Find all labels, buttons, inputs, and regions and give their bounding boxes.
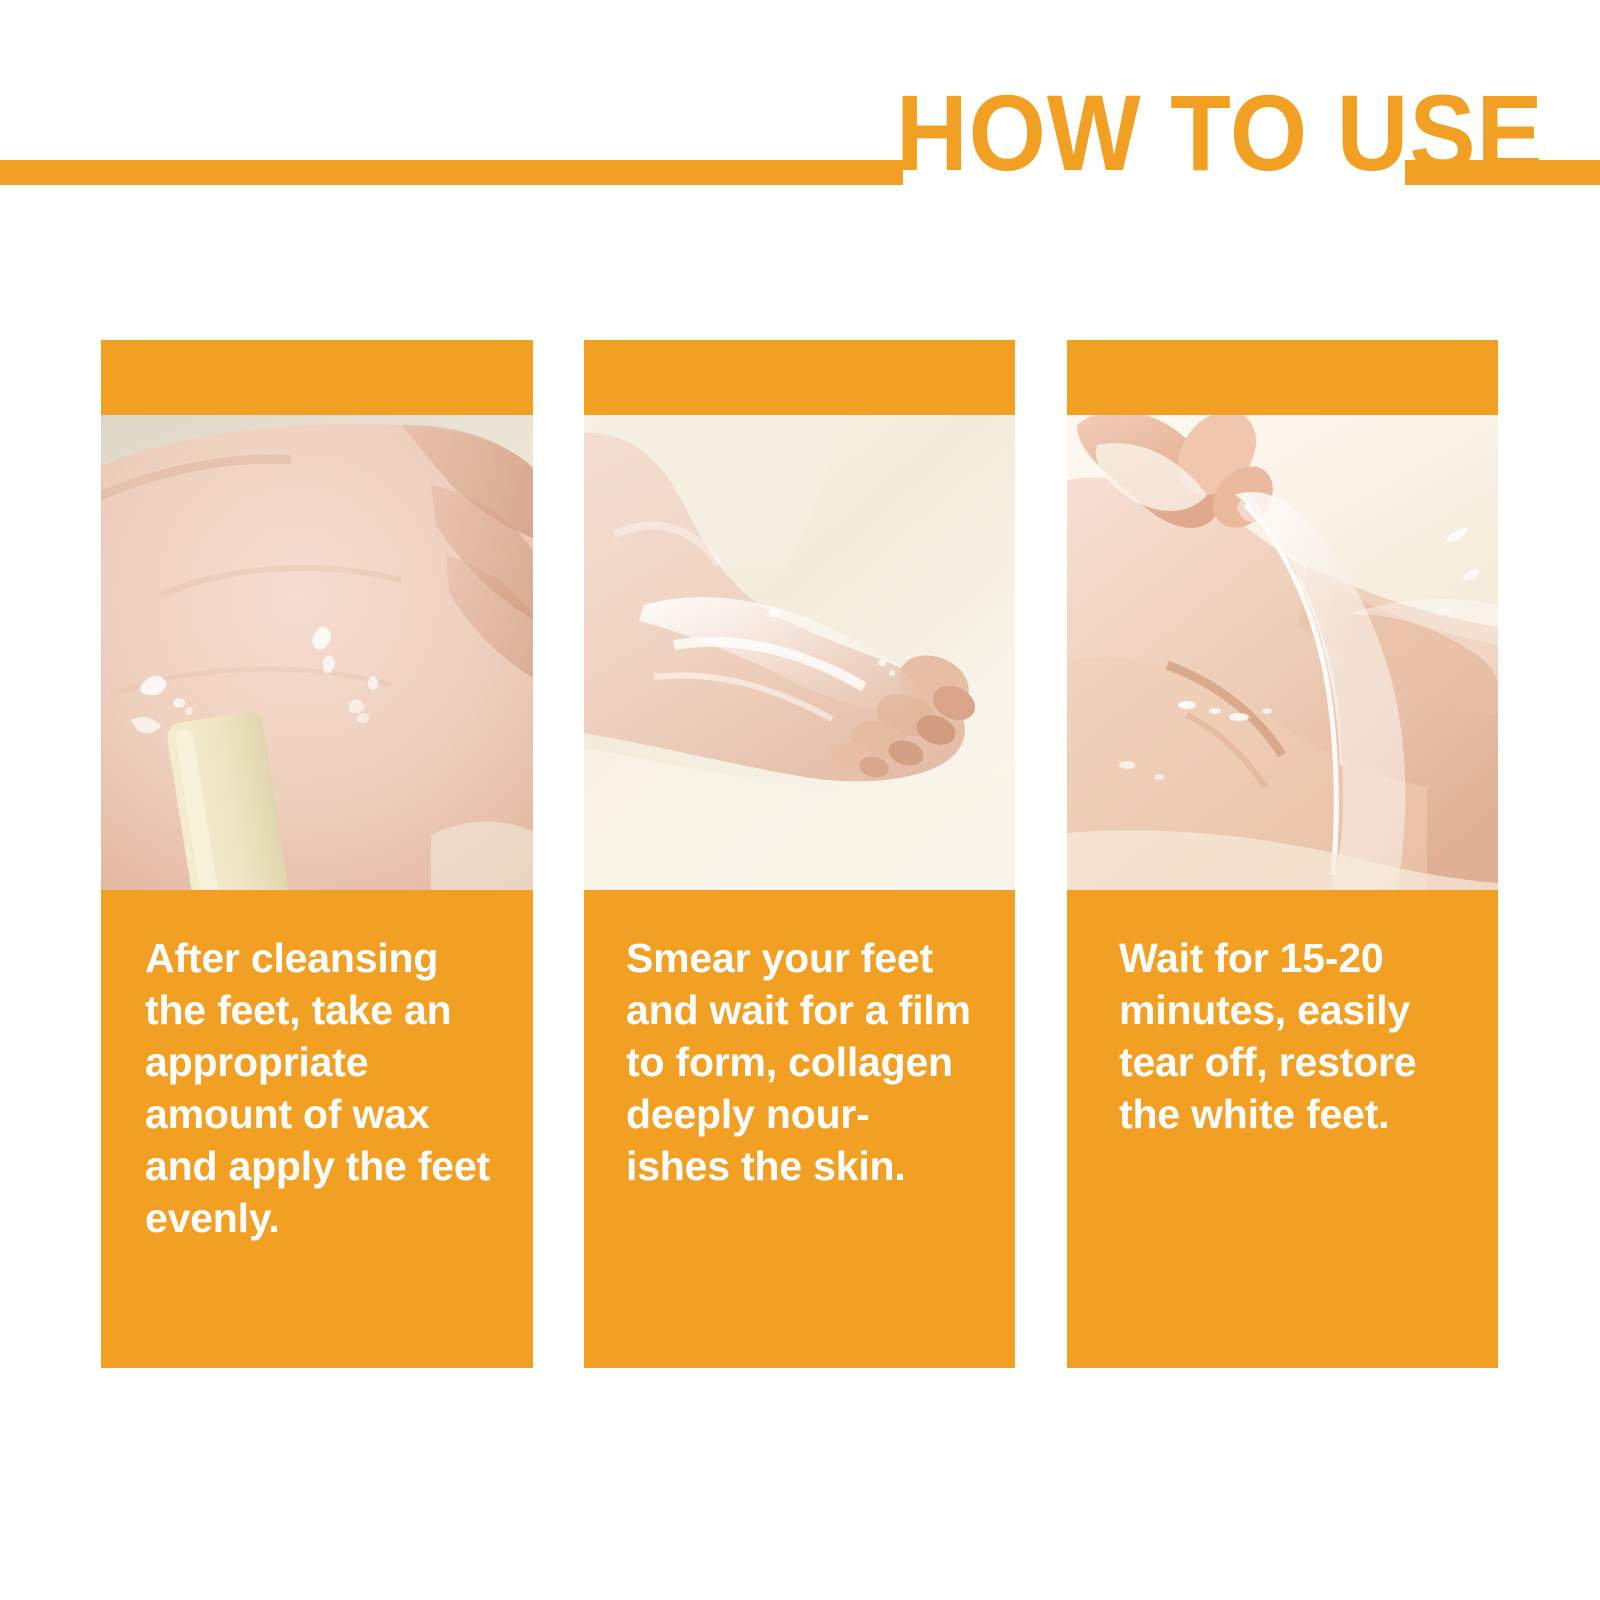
step-caption-panel-3: Wait for 15-20 minutes, easily tear off,… [1067, 890, 1498, 1368]
foot-peel-icon [1067, 415, 1498, 890]
step-photo-2 [584, 415, 1015, 890]
steps-container: After cleansing the feet, take an approp… [0, 0, 1600, 1600]
card-top-band [101, 340, 533, 415]
step-card-1: After cleansing the feet, take an approp… [101, 340, 533, 1368]
step-card-3: Wait for 15-20 minutes, easily tear off,… [1067, 340, 1498, 1368]
step-caption-text-2: Smear your feet and wait for a film to f… [626, 932, 974, 1192]
foot-applicator-icon [101, 415, 533, 890]
step-caption-panel-2: Smear your feet and wait for a film to f… [584, 890, 1015, 1368]
step-caption-text-1: After cleansing the feet, take an approp… [145, 932, 493, 1244]
page-root: HOW TO USE [0, 0, 1600, 1600]
foot-film-icon [584, 415, 1015, 890]
step-card-2: Smear your feet and wait for a film to f… [584, 340, 1015, 1368]
step-photo-3 [1067, 415, 1498, 890]
step-caption-panel-1: After cleansing the feet, take an approp… [101, 890, 533, 1368]
step-photo-1 [101, 415, 533, 890]
step-caption-text-3: Wait for 15-20 minutes, easily tear off,… [1119, 932, 1471, 1140]
card-top-band [1067, 340, 1498, 415]
card-top-band [584, 340, 1015, 415]
